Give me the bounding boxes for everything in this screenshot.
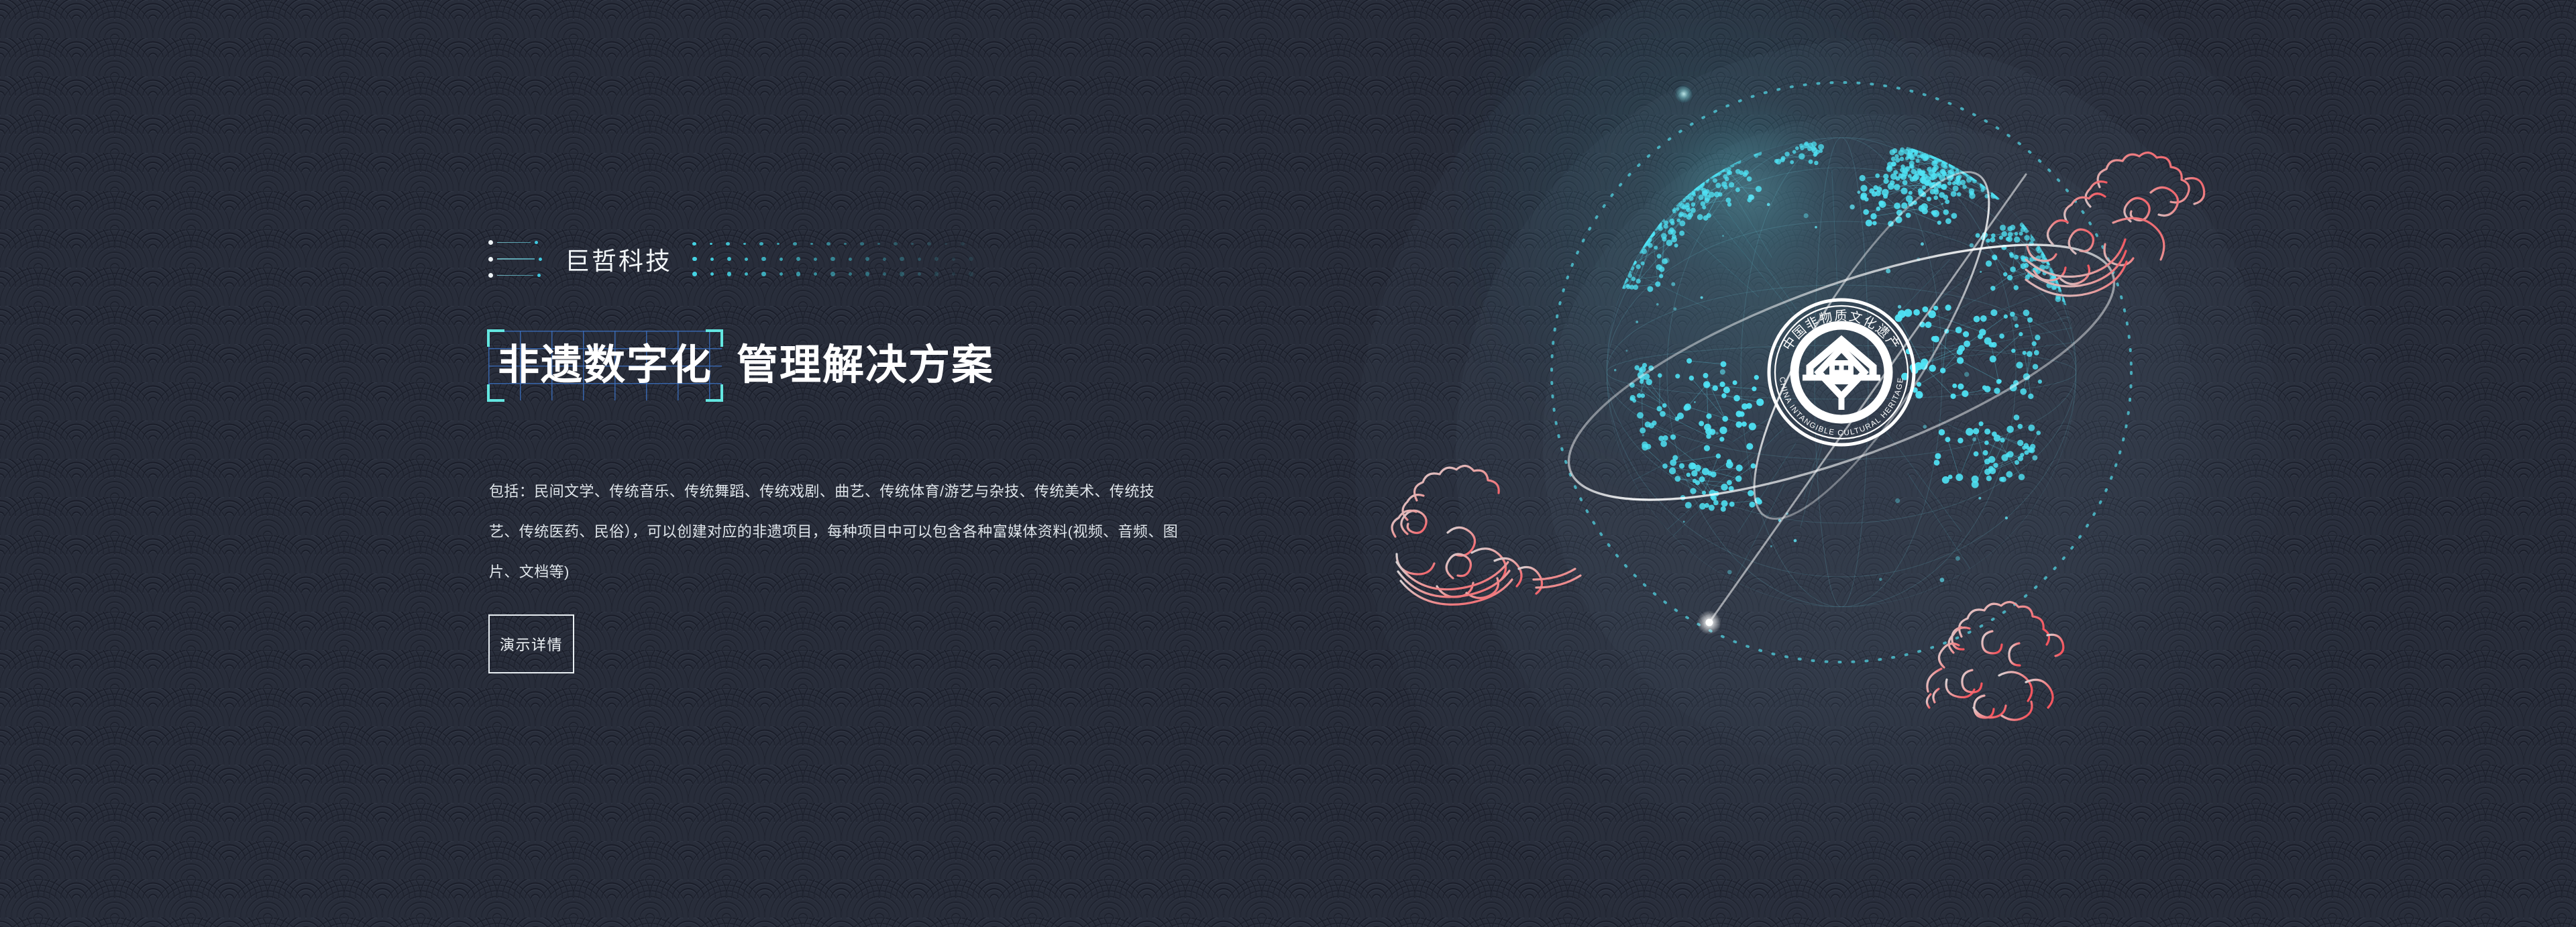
corner-bracket-top-left-icon — [487, 329, 504, 347]
dot-grid-dot — [830, 257, 835, 262]
dot-grid-dot — [745, 258, 748, 261]
deco-line-2 — [488, 256, 553, 262]
dot-grid-dot — [761, 272, 766, 276]
deco-dot-cyan — [537, 274, 541, 277]
dot-grid-dot — [877, 243, 880, 245]
dot-grid-row — [692, 241, 973, 246]
corner-bracket-top-right-icon — [706, 329, 723, 347]
deco-dot-cyan — [535, 241, 538, 244]
particle-globe-icon: 中国非物质文化遗产 CHINA INTANGIBLE CULTURAL HERI… — [1496, 37, 2187, 728]
dot-grid-dot — [745, 272, 748, 276]
dot-grid-dot — [911, 243, 914, 245]
dot-grid-dot — [710, 258, 714, 261]
headline-rest-text: 管理解决方案 — [737, 345, 994, 386]
dot-grid-dot — [883, 272, 886, 276]
dot-grid-dot — [692, 272, 697, 276]
dot-grid-row — [692, 257, 973, 262]
headline-highlight-text: 非遗数字化 — [498, 345, 712, 386]
deco-bar — [497, 258, 535, 260]
deco-bar — [497, 275, 533, 276]
dot-grid-dot — [814, 272, 817, 276]
dot-grid-dot — [934, 257, 939, 262]
dot-grid-dot — [814, 258, 817, 261]
dot-grid-dot — [849, 272, 852, 276]
dot-grid-dot — [710, 272, 714, 276]
dot-grid-dot — [726, 242, 730, 246]
dot-grid-dot — [796, 272, 801, 276]
dot-grid-dot — [826, 242, 830, 246]
dot-grid-dot — [969, 257, 973, 262]
dot-grid-dot — [692, 257, 697, 262]
page-title: 非遗数字化 管理解决方案 — [488, 330, 994, 401]
dot-grid-dot — [780, 258, 783, 261]
headline-highlight-box: 非遗数字化 — [488, 331, 722, 400]
dot-grid-dot — [759, 242, 763, 246]
dot-grid-dot — [727, 272, 732, 276]
dot-grid-dot — [927, 242, 931, 246]
dot-grid-dot — [945, 243, 947, 245]
hero-banner: 中国非物质文化遗产 CHINA INTANGIBLE CULTURAL HERI… — [0, 0, 2576, 927]
dot-grid-dot — [894, 242, 898, 246]
dot-grid-dot — [777, 243, 780, 245]
dot-grid-dot — [860, 242, 864, 246]
dot-grid-dot — [727, 257, 732, 262]
fading-dot-grid-icon — [692, 241, 973, 276]
demo-details-button[interactable]: 演示详情 — [488, 614, 574, 673]
dot-grid-dot — [849, 258, 852, 261]
dot-grid-dot — [844, 243, 847, 245]
dot-grid-dot — [796, 257, 801, 262]
hero-content: 巨哲科技 非遗数字化 管理解决方案 包括：民间文学、传统音乐、传统舞蹈、传统戏剧… — [488, 0, 1320, 927]
dot-grid-dot — [918, 258, 921, 261]
deco-dot-white — [488, 240, 493, 245]
dot-grid-dot — [961, 242, 965, 246]
dot-grid-dot — [743, 243, 746, 245]
dot-grid-row — [692, 272, 973, 276]
dot-grid-dot — [969, 272, 973, 276]
deco-dot-white — [488, 257, 493, 262]
dot-grid-dot — [710, 243, 712, 245]
dot-grid-dot — [761, 257, 766, 262]
dot-grid-dot — [883, 258, 886, 261]
dot-grid-dot — [900, 257, 904, 262]
dot-grid-dot — [780, 272, 783, 276]
deco-line-3 — [488, 272, 553, 278]
dot-grid-dot — [830, 272, 835, 276]
dot-grid-dot — [952, 258, 955, 261]
corner-bracket-bottom-left-icon — [487, 384, 504, 402]
dot-grid-dot — [692, 242, 696, 246]
dot-grid-dot — [934, 272, 939, 276]
deco-bar — [497, 242, 531, 243]
dot-grid-dot — [793, 242, 797, 246]
dot-grid-dot — [918, 272, 921, 276]
dot-grid-dot — [900, 272, 904, 276]
corner-bracket-bottom-right-icon — [706, 384, 723, 402]
dot-grid-dot — [865, 272, 870, 276]
dot-grid-dot — [865, 257, 870, 262]
dot-grid-dot — [952, 272, 955, 276]
hero-description: 包括：民间文学、传统音乐、传统舞蹈、传统戏剧、曲艺、传统体育/游艺与杂技、传统美… — [489, 472, 1180, 592]
triple-line-dot-deco-icon — [488, 239, 553, 278]
deco-dot-cyan — [539, 258, 542, 261]
brand-name: 巨哲科技 — [565, 241, 672, 277]
deco-dot-white — [488, 273, 493, 278]
brand-row: 巨哲科技 — [488, 238, 973, 280]
dot-grid-dot — [810, 243, 813, 245]
deco-line-1 — [488, 239, 553, 246]
